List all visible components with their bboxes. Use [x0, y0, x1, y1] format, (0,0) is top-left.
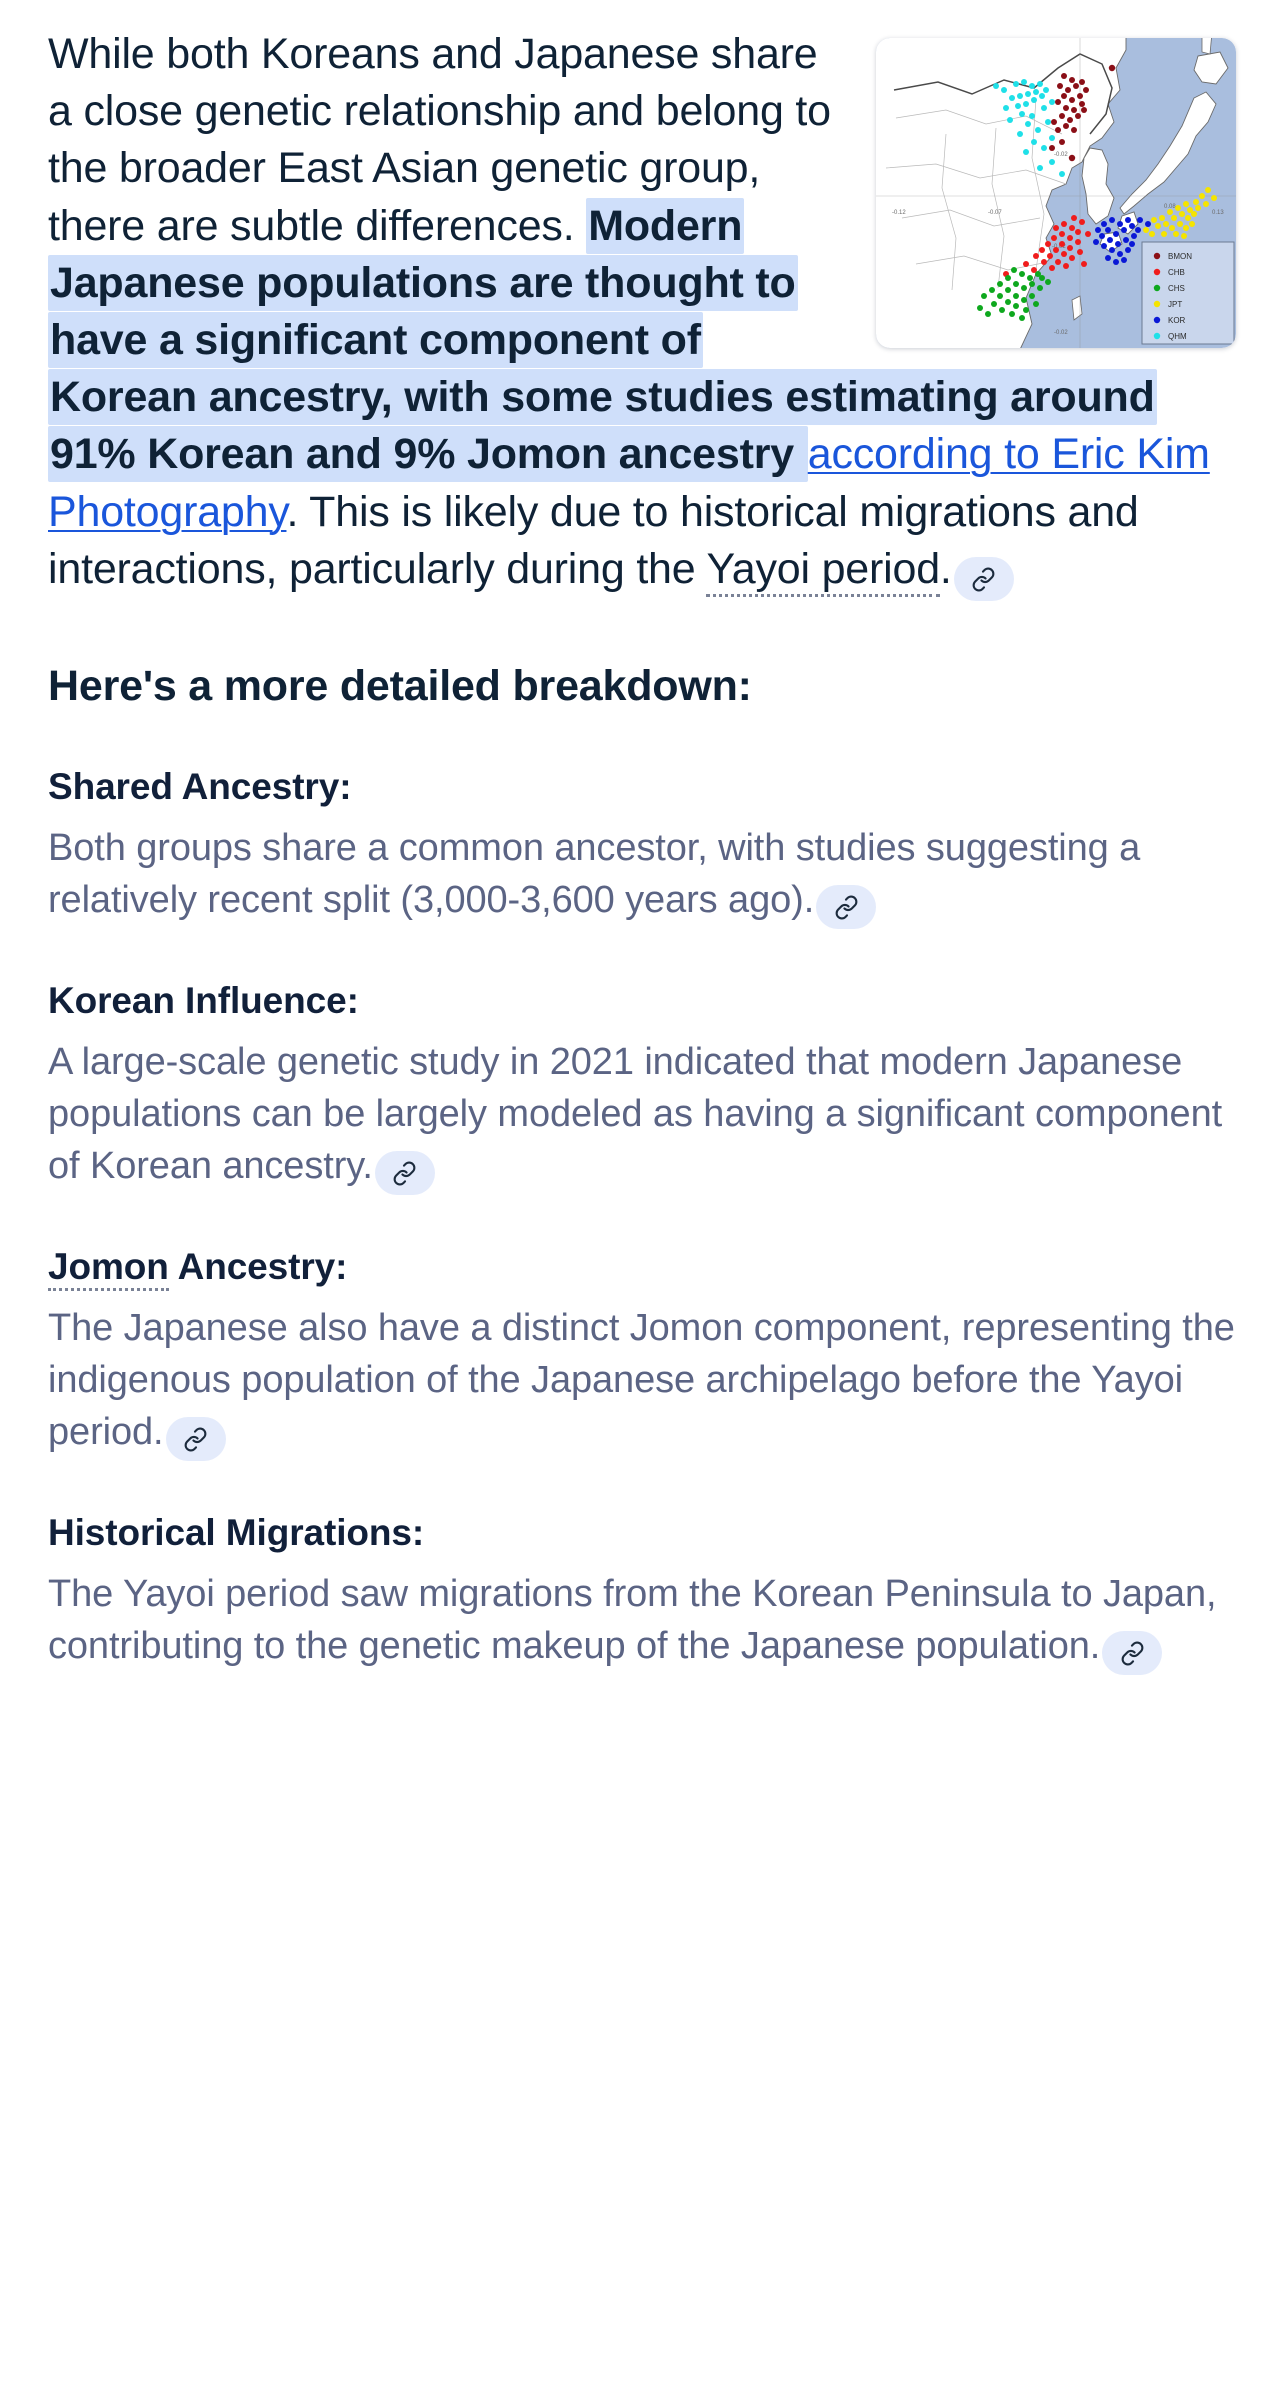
link-chip-intro[interactable] [954, 557, 1014, 601]
svg-text:-0.12: -0.12 [892, 210, 906, 216]
section-body-shared-ancestry: Both groups share a common ancestor, wit… [48, 823, 1236, 929]
svg-text:JPT: JPT [1168, 300, 1182, 309]
term-jomon[interactable]: Jomon [48, 1246, 169, 1291]
section-korean-influence: Korean Influence: A large-scale genetic … [48, 977, 1236, 1195]
svg-text:KOR: KOR [1168, 316, 1186, 325]
section-body-text: The Yayoi period saw migrations from the… [48, 1573, 1216, 1667]
section-body-jomon-ancestry: The Japanese also have a distinct Jomon … [48, 1303, 1236, 1461]
section-title-shared-ancestry: Shared Ancestry: [48, 763, 1236, 811]
link-chip-jomon-ancestry[interactable] [166, 1417, 226, 1461]
answer-page: -0.12 -0.07 -0.02 -0.02 -0.02 0.13 0.08 [0, 0, 1284, 2391]
svg-text:CHS: CHS [1168, 284, 1185, 293]
svg-text:QHM: QHM [1168, 332, 1187, 341]
svg-text:-0.02: -0.02 [1054, 330, 1068, 336]
intro-tail: . [940, 545, 952, 593]
link-icon [392, 1161, 417, 1186]
link-icon [1120, 1641, 1145, 1666]
svg-text:-0.07: -0.07 [988, 210, 1002, 216]
section-body-text: The Japanese also have a distinct Jomon … [48, 1307, 1235, 1452]
svg-text:BMON: BMON [1168, 252, 1192, 261]
term-yayoi-period[interactable]: Yayoi period [706, 545, 939, 597]
link-chip-historical-migrations[interactable] [1102, 1631, 1162, 1675]
svg-text:-0.02: -0.02 [1054, 152, 1068, 158]
link-chip-korean-influence[interactable] [375, 1151, 435, 1195]
section-title-historical-migrations: Historical Migrations: [48, 1509, 1236, 1557]
section-body-text: Both groups share a common ancestor, wit… [48, 827, 1140, 921]
section-historical-migrations: Historical Migrations: The Yayoi period … [48, 1509, 1236, 1675]
map-legend: BMON CHB CHS JPT KOR QHM [1142, 242, 1234, 344]
section-title-jomon-ancestry: Jomon Ancestry: [48, 1243, 1236, 1291]
breakdown-heading: Here's a more detailed breakdown: [48, 659, 1236, 715]
east-asia-pca-map-image: -0.12 -0.07 -0.02 -0.02 -0.02 0.13 0.08 [876, 38, 1236, 348]
section-title-korean-influence: Korean Influence: [48, 977, 1236, 1025]
section-shared-ancestry: Shared Ancestry: Both groups share a com… [48, 763, 1236, 929]
section-body-korean-influence: A large-scale genetic study in 2021 indi… [48, 1037, 1236, 1195]
east-asia-pca-map-figure[interactable]: -0.12 -0.07 -0.02 -0.02 -0.02 0.13 0.08 [876, 38, 1236, 348]
section-jomon-ancestry: Jomon Ancestry: The Japanese also have a… [48, 1243, 1236, 1461]
svg-text:0.13: 0.13 [1212, 210, 1224, 216]
section-title-rest: Ancestry: [169, 1246, 348, 1287]
link-icon [834, 895, 859, 920]
link-icon [183, 1427, 208, 1452]
section-body-historical-migrations: The Yayoi period saw migrations from the… [48, 1569, 1236, 1675]
link-icon [971, 567, 996, 592]
section-body-text: A large-scale genetic study in 2021 indi… [48, 1041, 1222, 1186]
svg-text:CHB: CHB [1168, 268, 1185, 277]
link-chip-shared-ancestry[interactable] [816, 885, 876, 929]
